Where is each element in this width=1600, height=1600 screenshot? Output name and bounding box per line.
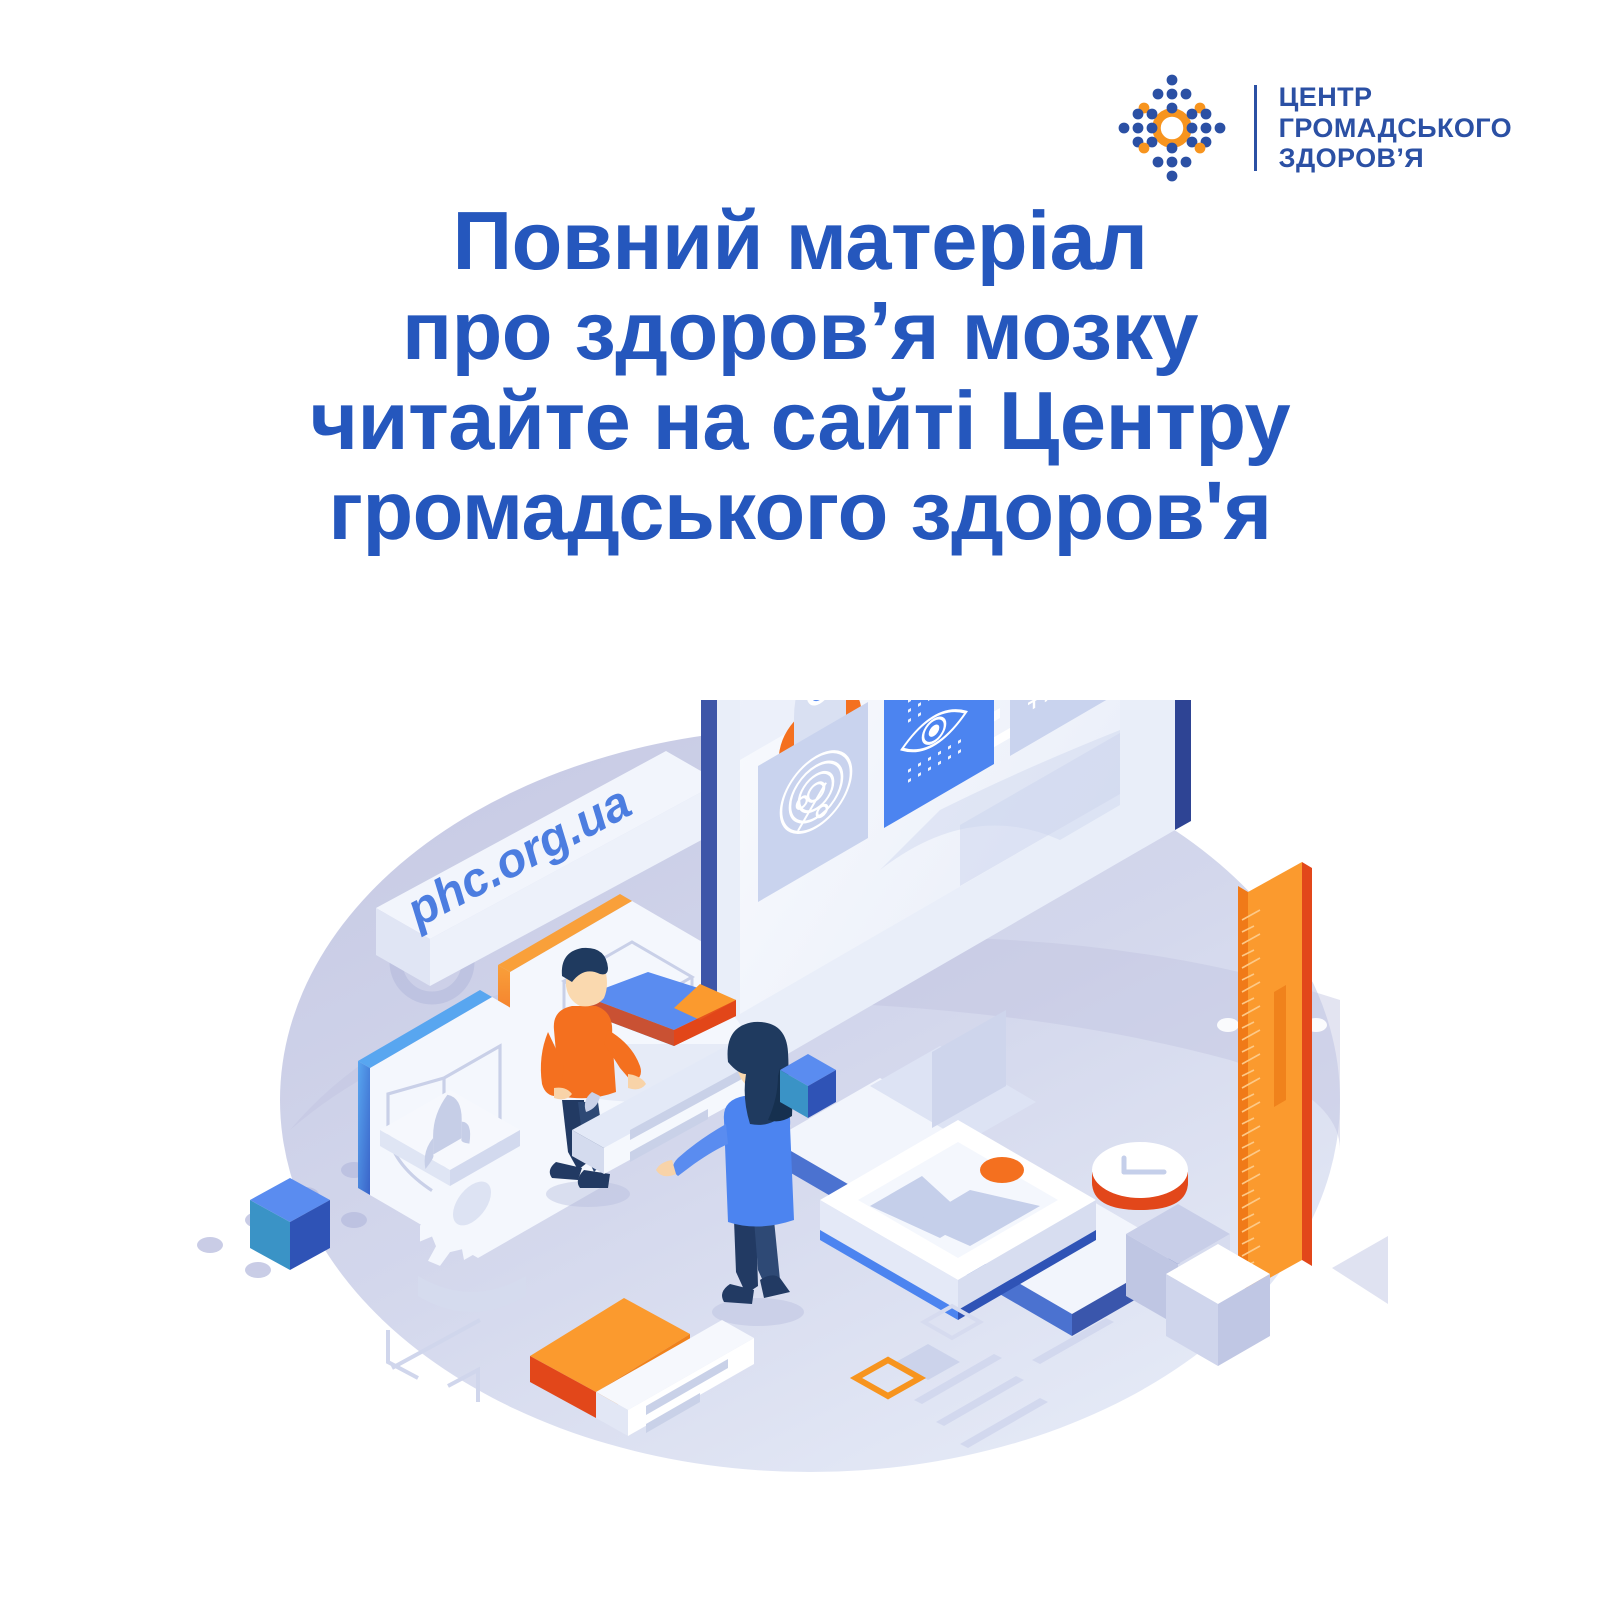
logo-line-2: ГРОМАДСЬКОГО	[1279, 114, 1512, 143]
hero-illustration: phc.org.ua	[180, 700, 1440, 1480]
orange-ruler	[1238, 862, 1312, 1290]
headline-line-3: читайте на сайті Центру	[0, 376, 1600, 466]
headline-line-1: Повний матеріал	[0, 196, 1600, 286]
logo-line-1: ЦЕНТР	[1279, 83, 1512, 112]
headline-line-4: громадського здоров'я	[0, 466, 1600, 556]
phc-diamond-dots-logo-icon	[1112, 68, 1232, 188]
logo-divider	[1254, 85, 1257, 171]
page-title: Повний матеріал про здоров’я мозку читай…	[0, 196, 1600, 556]
headline-line-2: про здоров’я мозку	[0, 286, 1600, 376]
logo-line-3: ЗДОРОВ’Я	[1279, 144, 1512, 173]
clock-disc	[1092, 1142, 1188, 1210]
logo-wordmark: ЦЕНТР ГРОМАДСЬКОГО ЗДОРОВ’Я	[1279, 83, 1512, 174]
decorative-triangle	[1332, 1236, 1388, 1304]
brand-logo: ЦЕНТР ГРОМАДСЬКОГО ЗДОРОВ’Я	[1112, 68, 1512, 188]
